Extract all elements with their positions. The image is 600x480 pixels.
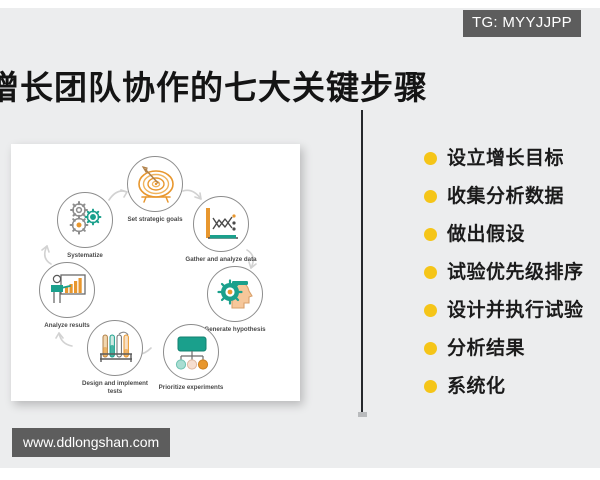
- list-item-label: 分析结果: [447, 337, 525, 359]
- list-item-label: 系统化: [447, 375, 506, 397]
- hierarchy-icon: [164, 325, 220, 381]
- letterbox-top: [0, 0, 600, 8]
- line-chart-icon: [194, 197, 250, 253]
- diagram-node-set-strategic-goals[interactable]: Set strategic goals: [127, 156, 183, 212]
- list-item-label: 设计并执行试验: [447, 299, 584, 321]
- telegram-tag: TG: MYYJJPP: [463, 10, 581, 37]
- list-item-label: 收集分析数据: [447, 185, 564, 207]
- diagram-node-label: Systematize: [67, 252, 103, 260]
- diagram-node-label: Set strategic goals: [119, 216, 191, 224]
- bullet-dot-icon: [424, 304, 437, 317]
- list-item-label: 做出假设: [447, 223, 525, 245]
- diagram-node-label: Design and implement tests: [79, 380, 151, 396]
- list-item[interactable]: 设立增长目标: [424, 139, 600, 177]
- bullet-dot-icon: [424, 342, 437, 355]
- list-item[interactable]: 系统化: [424, 367, 600, 405]
- list-item[interactable]: 试验优先级排序: [424, 253, 600, 291]
- list-item[interactable]: 设计并执行试验: [424, 291, 600, 329]
- diagram-node-generate-hypothesis[interactable]: Generate hypothesis: [207, 266, 263, 322]
- bullet-dot-icon: [424, 266, 437, 279]
- bullet-dot-icon: [424, 152, 437, 165]
- presentation-chart-icon: [40, 263, 96, 319]
- slide-canvas: 增长团队协作的七大关键步骤: [0, 0, 600, 480]
- cycle-diagram: Set strategic goals Gather and analyze d…: [11, 144, 300, 401]
- key-steps-list: 设立增长目标 收集分析数据 做出假设 试验优先级排序 设计并执行试验 分析结果 …: [424, 139, 600, 405]
- vertical-divider: [361, 110, 363, 415]
- bullet-dot-icon: [424, 380, 437, 393]
- letterbox-bottom: [0, 468, 600, 480]
- gears-icon: [58, 193, 114, 249]
- list-item-label: 试验优先级排序: [447, 261, 584, 283]
- list-item-label: 设立增长目标: [447, 147, 564, 169]
- diagram-node-systematize[interactable]: Systematize: [57, 192, 113, 248]
- target-icon: [128, 157, 184, 213]
- bullet-dot-icon: [424, 190, 437, 203]
- page-title: 增长团队协作的七大关键步骤: [0, 66, 428, 110]
- diagram-node-label: Gather and analyze data: [185, 256, 257, 264]
- list-item[interactable]: 分析结果: [424, 329, 600, 367]
- diagram-node-gather-and-analyze-data[interactable]: Gather and analyze data: [193, 196, 249, 252]
- head-gear-icon: [208, 267, 264, 323]
- watermark: www.ddlongshan.com: [12, 428, 170, 457]
- bullet-dot-icon: [424, 228, 437, 241]
- vertical-divider-foot: [358, 412, 367, 417]
- list-item[interactable]: 做出假设: [424, 215, 600, 253]
- diagram-node-label: Analyze results: [31, 322, 103, 330]
- diagram-node-prioritize-experiments[interactable]: Prioritize experiments: [163, 324, 219, 380]
- list-item[interactable]: 收集分析数据: [424, 177, 600, 215]
- cycle-diagram-card: Set strategic goals Gather and analyze d…: [11, 144, 300, 401]
- diagram-node-label: Prioritize experiments: [155, 384, 227, 392]
- diagram-node-analyze-results[interactable]: Analyze results: [39, 262, 95, 318]
- arrow-design-to-analyze: [55, 330, 75, 350]
